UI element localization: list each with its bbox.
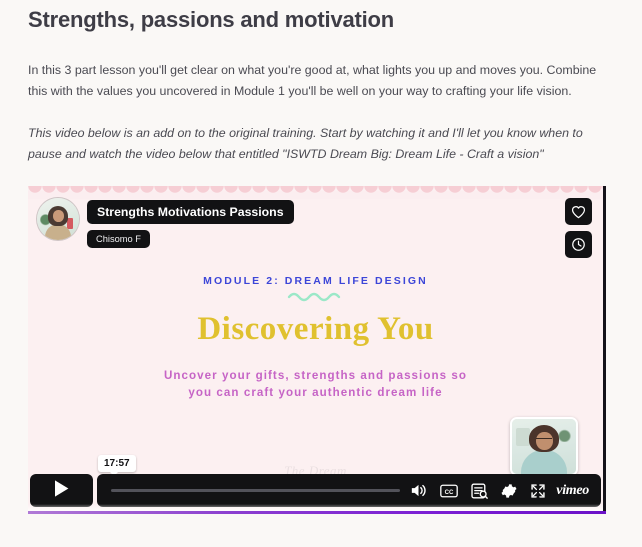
slide-module-line: MODULE 2: DREAM LIFE DESIGN (28, 275, 603, 287)
svg-text:CC: CC (445, 489, 454, 495)
lesson-intro-paragraph: In this 3 part lesson you'll get clear o… (28, 34, 608, 102)
transcript-search-icon (471, 483, 488, 499)
control-icons: CC (410, 483, 546, 499)
webcam-plant (558, 427, 571, 442)
volume-icon (410, 483, 427, 498)
volume-button[interactable] (410, 483, 427, 498)
transcript-button[interactable] (471, 483, 488, 499)
clock-icon (571, 237, 586, 252)
squiggle-divider-icon (28, 289, 603, 303)
webcam-shelf (516, 428, 530, 446)
slide-subhead: Uncover your gifts, strengths and passio… (28, 367, 603, 401)
progress-bar[interactable] (111, 489, 400, 492)
avatar[interactable] (37, 198, 79, 240)
watch-later-button[interactable] (565, 231, 592, 258)
video-side-actions (565, 198, 592, 258)
settings-button[interactable] (501, 483, 517, 499)
gear-icon (501, 483, 517, 499)
video-frame[interactable]: MODULE 2: DREAM LIFE DESIGN Discovering … (28, 186, 606, 511)
like-button[interactable] (565, 198, 592, 225)
lesson-note-paragraph: This video below is an add on to the ori… (28, 102, 608, 165)
video-controls-bar: CC (30, 474, 601, 507)
cc-icon: CC (440, 484, 458, 498)
webcam-presenter-glasses (536, 438, 552, 443)
avatar-face (53, 210, 64, 222)
time-tooltip: 17:57 (98, 455, 136, 472)
video-title-chip[interactable]: Strengths Motivations Passions (87, 200, 294, 224)
fullscreen-button[interactable] (530, 483, 546, 499)
video-owner-chip[interactable]: Chisomo F (87, 230, 150, 248)
fullscreen-icon (530, 483, 546, 499)
violet-bottom-edge (28, 511, 606, 514)
avatar-cup (67, 218, 73, 229)
video-chips: Strengths Motivations Passions Chisomo F (87, 198, 294, 248)
play-icon (53, 479, 70, 503)
slide-headline: Discovering You (28, 311, 603, 348)
heart-icon (571, 205, 586, 219)
captions-button[interactable]: CC (440, 484, 458, 498)
video-player[interactable]: MODULE 2: DREAM LIFE DESIGN Discovering … (28, 186, 606, 511)
play-button[interactable] (30, 474, 93, 507)
vimeo-logo[interactable]: vimeo (556, 483, 589, 499)
slide-subhead-line2: you can craft your authentic dream life (188, 386, 442, 399)
presenter-webcam-overlay (510, 417, 578, 476)
lesson-content: Strengths, passions and motivation In th… (0, 0, 642, 165)
page-title: Strengths, passions and motivation (28, 0, 614, 34)
video-title-overlay: Strengths Motivations Passions Chisomo F (37, 198, 294, 248)
video-progress-panel[interactable]: CC (97, 474, 601, 507)
slide-subhead-line1: Uncover your gifts, strengths and passio… (164, 369, 467, 382)
